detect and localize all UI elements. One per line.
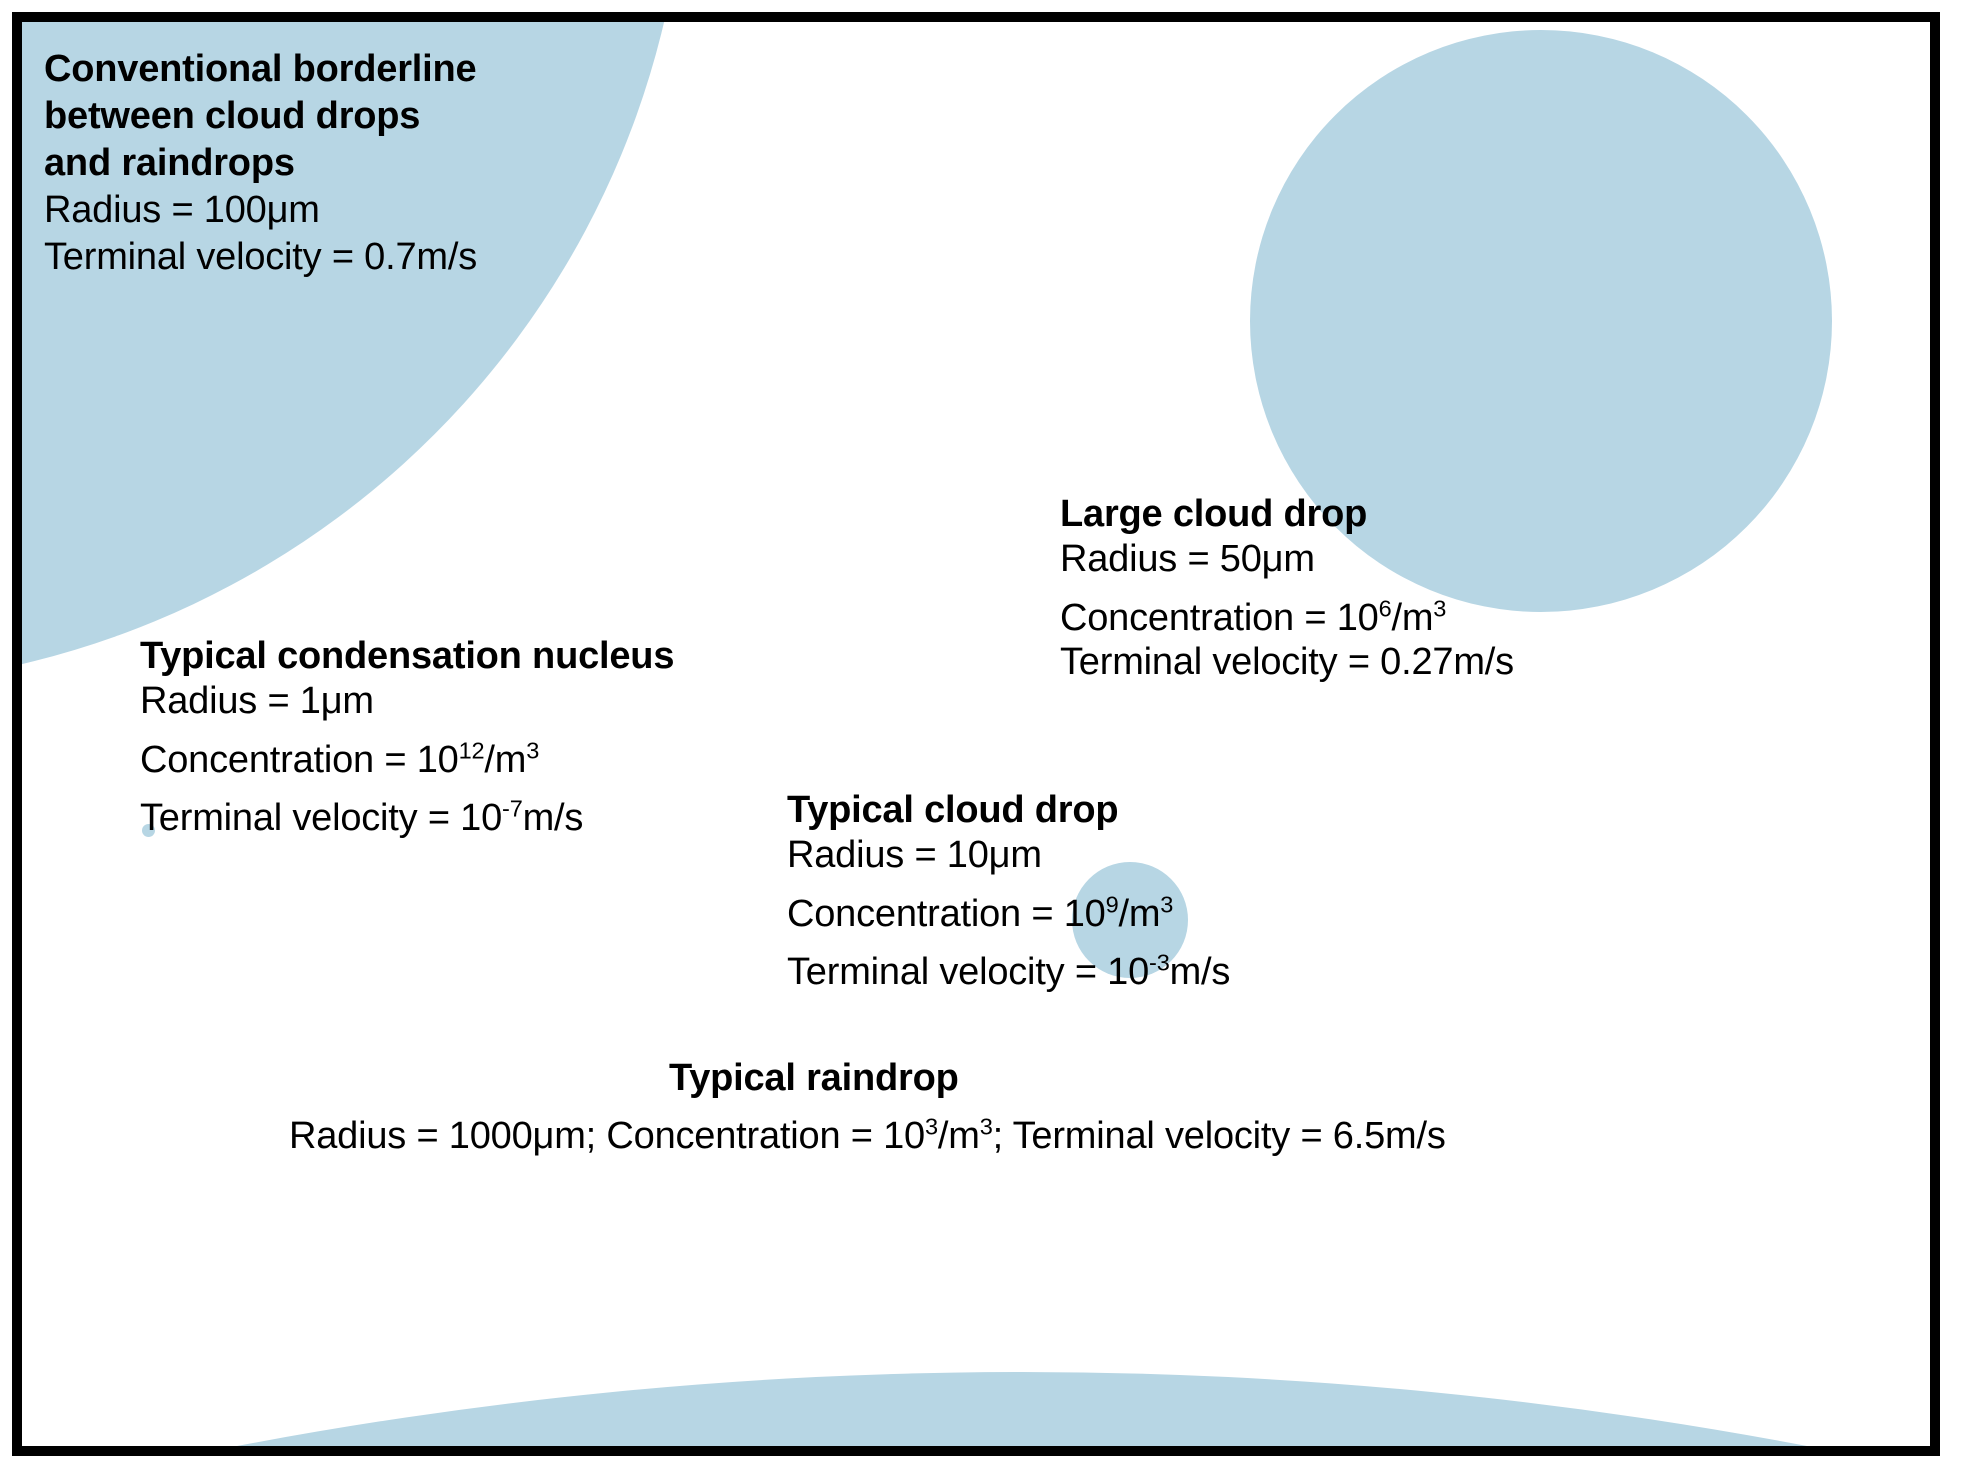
- typical-raindrop-title-wrap: Typical raindrop: [669, 1056, 959, 1101]
- typical-cloud-drop-radius: Radius = 10μm: [787, 833, 1230, 878]
- figure-canvas: Conventional borderline between cloud dr…: [22, 22, 1930, 1446]
- large-cloud-drop-title: Large cloud drop: [1060, 492, 1514, 537]
- large-cloud-drop-terminal-velocity: Terminal velocity = 0.27m/s: [1060, 640, 1514, 685]
- typical-cloud-drop-terminal-velocity: Terminal velocity = 10-3m/s: [787, 950, 1230, 995]
- borderline-drop-radius: Radius = 100μm: [44, 187, 484, 234]
- condensation-nucleus-label: Typical condensation nucleus Radius = 1μ…: [140, 634, 674, 841]
- typical-cloud-drop-label: Typical cloud drop Radius = 10μm Concent…: [787, 788, 1230, 995]
- large-cloud-drop-concentration-exponent: 6: [1379, 595, 1392, 621]
- large-cloud-drop-label: Large cloud drop Radius = 50μm Concentra…: [1060, 492, 1514, 685]
- figure-stage: Conventional borderline between cloud dr…: [0, 0, 1962, 1478]
- typical-raindrop-stats: Radius = 1000μm; Concentration = 103/m3;…: [289, 1114, 1446, 1159]
- typical-raindrop-concentration-exponent: 3: [925, 1113, 938, 1139]
- condensation-nucleus-title: Typical condensation nucleus: [140, 634, 674, 679]
- borderline-drop-terminal-velocity: Terminal velocity = 0.7m/s: [44, 234, 484, 281]
- large-cloud-drop-radius: Radius = 50μm: [1060, 537, 1514, 582]
- large-cloud-drop-unit-exponent: 3: [1433, 595, 1446, 621]
- typical-raindrop-arc: [12, 1372, 1940, 1456]
- condensation-nucleus-radius: Radius = 1μm: [140, 679, 674, 724]
- figure-border-frame: Conventional borderline between cloud dr…: [12, 12, 1940, 1456]
- borderline-drop-label: Conventional borderline between cloud dr…: [44, 46, 484, 282]
- typical-cloud-drop-title: Typical cloud drop: [787, 788, 1230, 833]
- condensation-nucleus-velocity-exponent: -7: [502, 796, 523, 822]
- condensation-nucleus-unit-exponent: 3: [526, 737, 539, 763]
- typical-cloud-drop-concentration: Concentration = 109/m3: [787, 892, 1230, 937]
- condensation-nucleus-concentration-exponent: 12: [459, 737, 485, 763]
- typical-raindrop-unit-exponent: 3: [980, 1113, 993, 1139]
- typical-cloud-drop-velocity-exponent: -3: [1149, 950, 1170, 976]
- large-cloud-drop-concentration: Concentration = 106/m3: [1060, 596, 1514, 641]
- condensation-nucleus-concentration: Concentration = 1012/m3: [140, 738, 674, 783]
- borderline-drop-title: Conventional borderline between cloud dr…: [44, 46, 484, 187]
- typical-raindrop-stats-line: Radius = 1000μm; Concentration = 103/m3;…: [289, 1114, 1446, 1159]
- typical-cloud-drop-unit-exponent: 3: [1160, 891, 1173, 917]
- typical-raindrop-title: Typical raindrop: [669, 1056, 959, 1101]
- typical-cloud-drop-concentration-exponent: 9: [1106, 891, 1119, 917]
- condensation-nucleus-terminal-velocity: Terminal velocity = 10-7m/s: [140, 796, 674, 841]
